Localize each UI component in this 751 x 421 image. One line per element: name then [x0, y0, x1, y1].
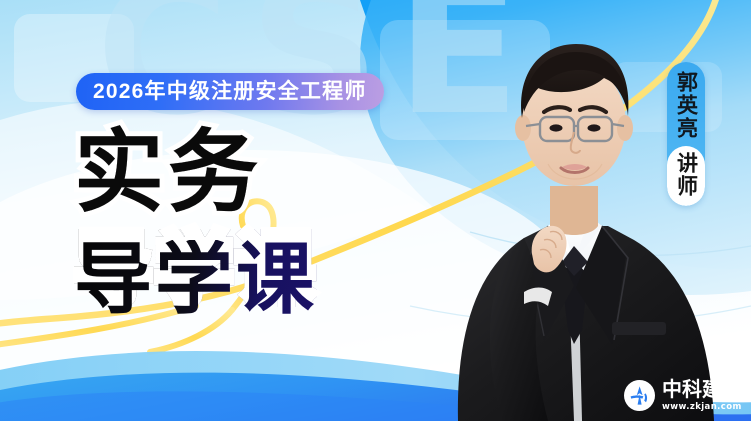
instructor-role-wrap: 讲师 — [667, 146, 705, 206]
zkjan-circle-icon — [624, 380, 655, 411]
brand-logo: 中科建安 www.zkjan.com — [624, 380, 742, 412]
course-title-badge: 2026年中级注册安全工程师 — [76, 73, 384, 110]
brand-name: 中科建安 — [662, 380, 742, 400]
instructor-name: 郭英亮 — [674, 71, 697, 146]
brand-url: www.zkjan.com — [662, 403, 742, 412]
course-poster: CSE — [0, 0, 751, 421]
headline-line-2-wrap: 导学课 导学课 — [74, 229, 317, 307]
page-title: 实务 实务 导学课 导学课 — [74, 128, 317, 307]
headline-line-1: 实务 — [74, 128, 262, 218]
headline-line-2: 导学课 — [74, 240, 317, 318]
course-title-badge-label: 2026年中级注册安全工程师 — [93, 81, 367, 102]
instructor-photo — [398, 0, 751, 421]
brand-wordmark: 中科建安 www.zkjan.com — [662, 380, 742, 412]
headline-line-1-wrap: 实务 实务 — [74, 128, 317, 218]
instructor-badge: 郭英亮 讲师 — [667, 62, 705, 206]
instructor-role: 讲师 — [674, 152, 697, 198]
